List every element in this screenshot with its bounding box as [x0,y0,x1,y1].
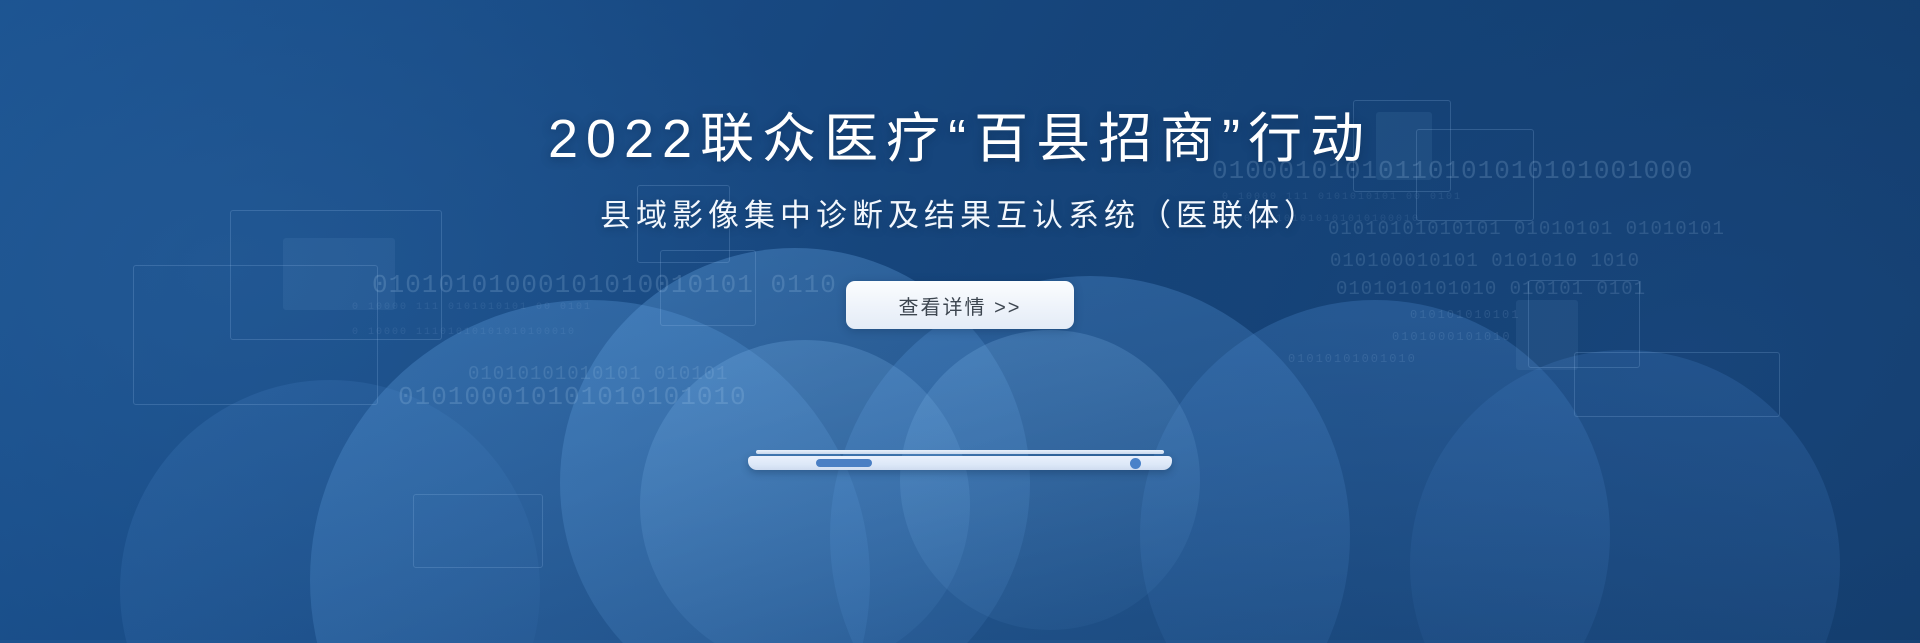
promo-banner: 01010101000101010010101 0110 0 10000 111… [0,0,1920,643]
indicator-dot-icon [1130,458,1141,469]
banner-subtitle: 县域影像集中诊断及结果互认系统（医联体） [600,200,1320,231]
laptop-hinge [756,450,1164,454]
laptop-base [748,456,1172,470]
trackpad-icon [816,459,872,467]
laptop-icon [748,450,1172,476]
banner-title: 2022联众医疗“百县招商”行动 [548,112,1372,166]
view-details-button[interactable]: 查看详情 >> [846,281,1074,329]
banner-content: 2022联众医疗“百县招商”行动 县域影像集中诊断及结果互认系统（医联体） 查看… [0,0,1920,643]
